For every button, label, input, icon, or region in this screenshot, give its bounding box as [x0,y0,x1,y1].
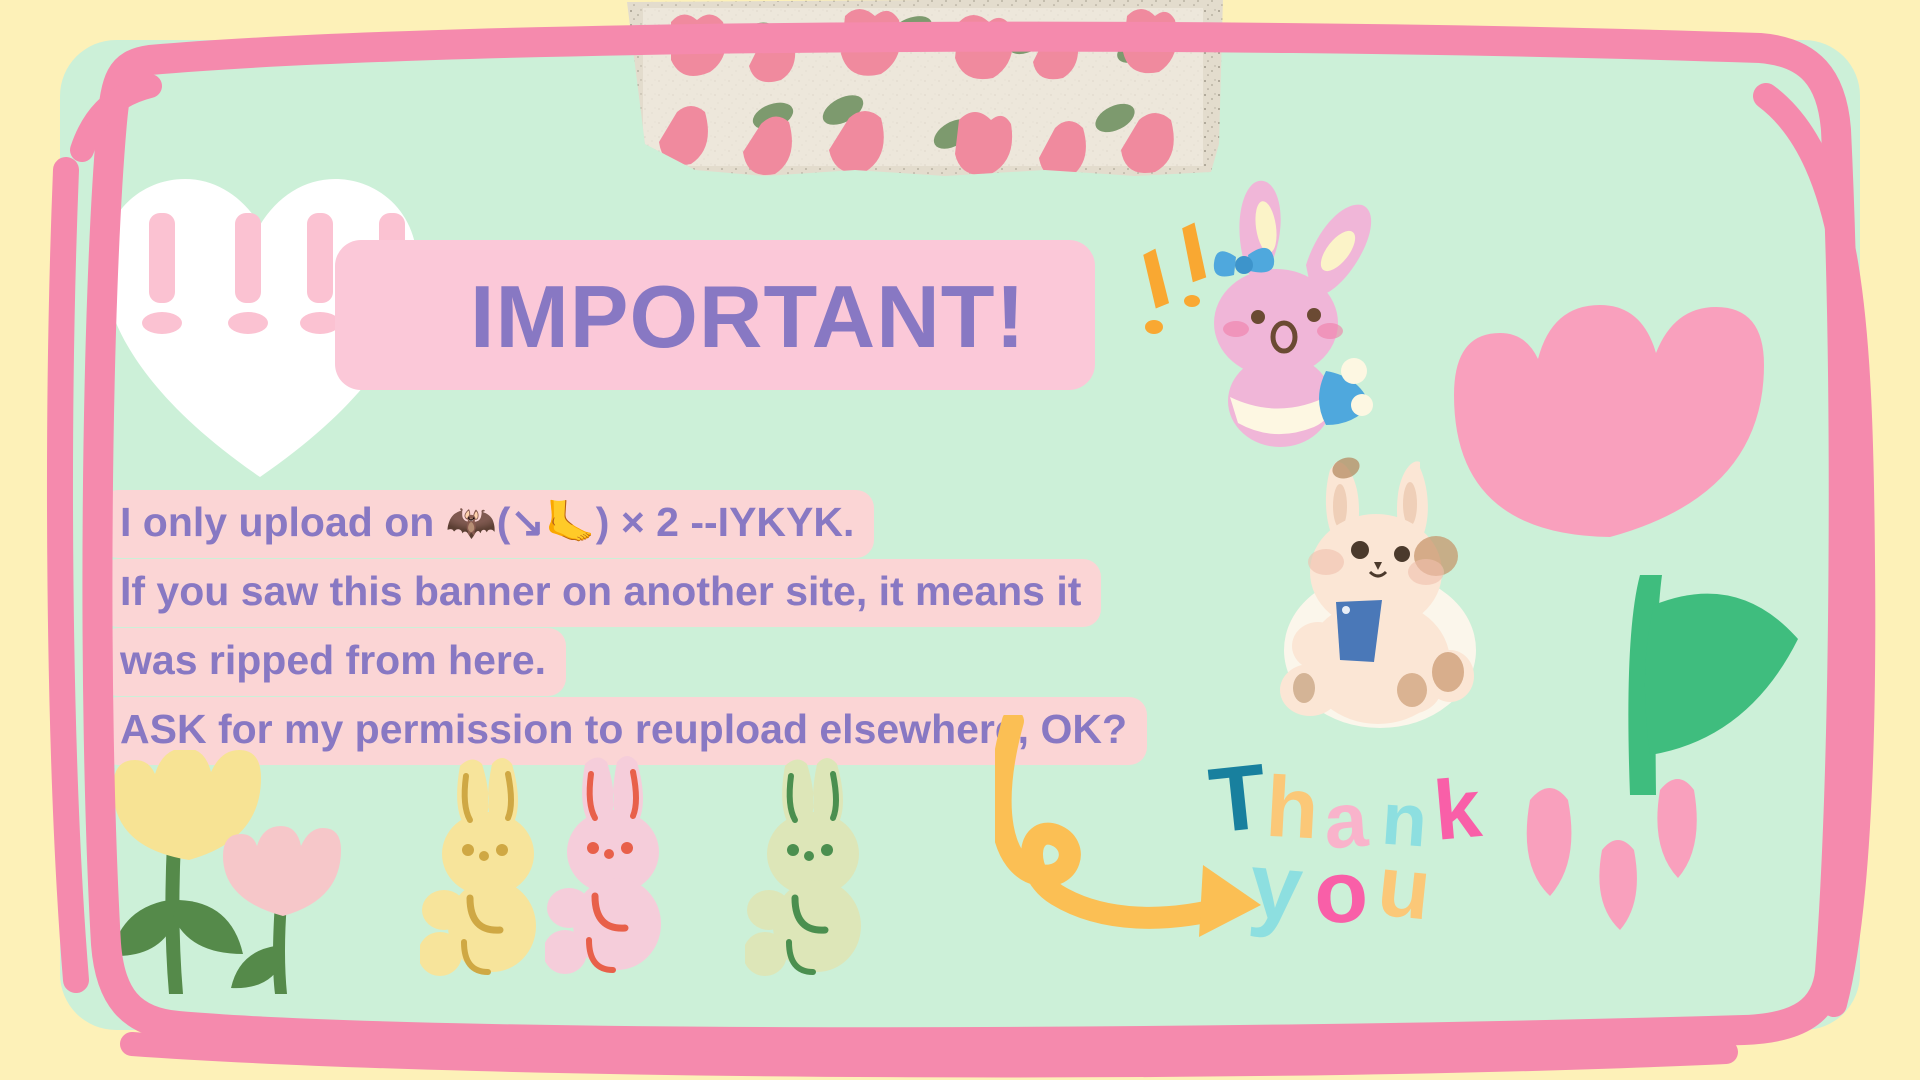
falling-petals [1490,760,1720,980]
ty-letter-y: y [1245,831,1306,943]
page-title: IMPORTANT! [470,262,1110,372]
gummy-bunny-green [745,750,880,980]
tulips-small-group [95,750,345,1000]
ty-letter-o: o [1311,840,1370,945]
tulip-pink [223,826,341,994]
flying-bunny-sticker [1130,165,1400,455]
tulip-large-pink [1440,245,1820,805]
thank-you-lettering: T h a n k y o u [1210,755,1510,935]
ty-letter-u: u [1373,837,1436,941]
ty-letter-k: k [1430,759,1485,860]
gummy-bunny-yellow [420,750,555,980]
banner-canvas: IMPORTANT! I only upload on 🦇(↘🦶) × 2 --… [0,0,1920,1080]
message-line-3: was ripped from here. [100,628,566,696]
message-line-1: I only upload on 🦇(↘🦶) × 2 --IYKYK. [100,490,874,558]
message-line-2: If you saw this banner on another site, … [100,559,1101,627]
gummy-bunny-pink [545,748,680,978]
